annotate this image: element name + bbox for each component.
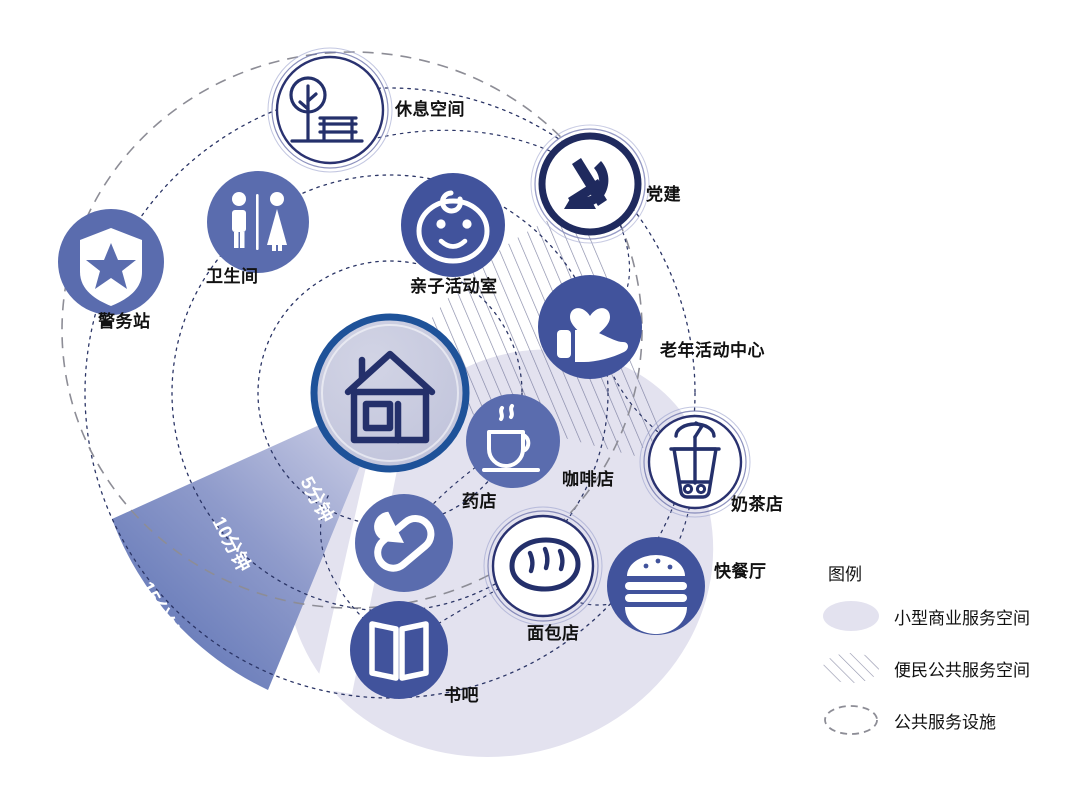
label-book-bar: 书吧 <box>444 687 479 704</box>
label-police-station: 警务站 <box>98 313 151 330</box>
label-milk-tea-shop: 奶茶店 <box>731 496 784 513</box>
node-fast-food[interactable] <box>607 537 705 635</box>
node-bakery[interactable] <box>484 507 602 625</box>
label-elderly-center: 老年活动中心 <box>660 342 765 359</box>
node-book-bar[interactable] <box>350 601 448 699</box>
legend: 图例 小型商业服务空间 便民公共服务空间 公共服务设施 <box>822 560 1072 755</box>
legend-item-commercial: 小型商业服务空间 <box>822 599 1072 633</box>
node-pharmacy[interactable] <box>355 494 453 592</box>
label-pharmacy: 药店 <box>462 493 497 510</box>
legend-label-public-facility: 公共服务设施 <box>894 708 996 733</box>
node-rest-space[interactable] <box>268 48 392 172</box>
node-elderly-center[interactable] <box>538 275 642 379</box>
label-rest-space: 休息空间 <box>395 101 465 118</box>
legend-swatch-hatched-ellipse <box>822 651 880 685</box>
legend-title: 图例 <box>828 560 1072 585</box>
node-restroom[interactable] <box>207 171 309 273</box>
node-police-station[interactable] <box>58 209 164 315</box>
label-restroom: 卫生间 <box>206 268 259 285</box>
burger-icon <box>625 555 687 634</box>
legend-swatch-dashed-ellipse <box>822 703 880 737</box>
infographic-canvas: 5分钟 10分钟 15分钟 <box>0 0 1080 808</box>
legend-label-public-service-space: 便民公共服务空间 <box>894 656 1030 681</box>
label-fast-food: 快餐厅 <box>714 563 767 580</box>
legend-swatch-solid-lavender-ellipse <box>822 599 880 633</box>
label-coffee-shop: 咖啡店 <box>562 471 615 488</box>
label-kids-room: 亲子活动室 <box>410 278 498 295</box>
node-party-building[interactable] <box>531 125 649 243</box>
label-party-building: 党建 <box>646 186 681 203</box>
center-node-house[interactable] <box>314 317 466 469</box>
node-kids-room[interactable] <box>401 173 505 277</box>
node-coffee-shop[interactable] <box>466 394 560 488</box>
label-bakery: 面包店 <box>527 625 580 642</box>
legend-item-public-facility: 公共服务设施 <box>822 703 1072 737</box>
legend-item-public-service-space: 便民公共服务空间 <box>822 651 1072 685</box>
legend-label-commercial: 小型商业服务空间 <box>894 604 1030 629</box>
